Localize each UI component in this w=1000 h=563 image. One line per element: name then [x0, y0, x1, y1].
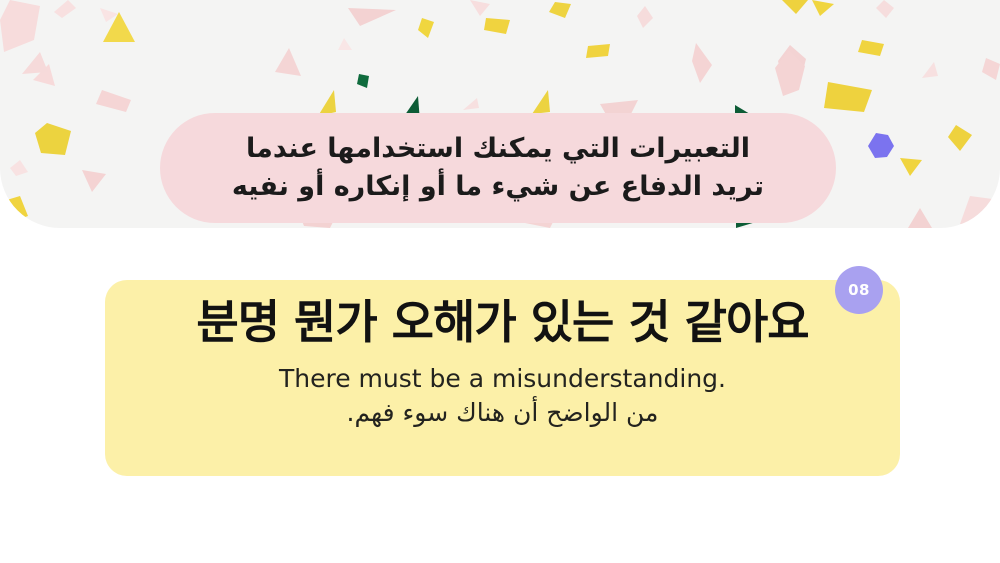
arabic-translation: من الواضح أن هناك سوء فهم. [105, 398, 900, 428]
yellow-pent-1-icon [35, 123, 71, 155]
pink-blob-top-left-icon [0, 0, 40, 52]
yellow-tri-r3-icon [900, 158, 922, 176]
purple-hexagon-icon [868, 133, 894, 158]
pink-sliver-3-icon [876, 0, 894, 18]
pink-sliver-2-icon [637, 6, 653, 28]
pink-sm-tri-1-icon [338, 38, 352, 50]
yellow-sliver-2-icon [549, 2, 571, 18]
header-line-1: التعبيرات التي يمكنك استخدامها عندما [246, 130, 750, 168]
pink-tiny-1-icon [463, 98, 479, 110]
korean-phrase: 분명 뭔가 오해가 있는 것 같아요 [105, 296, 900, 349]
pink-arrow-1-icon [692, 43, 712, 83]
pink-tri-mid-2-icon [470, 0, 490, 16]
english-translation: There must be a misunderstanding. [105, 364, 900, 394]
pink-quad-r1-icon [982, 58, 1000, 80]
yellow-quad-1-icon [484, 18, 510, 34]
yellow-quad-2-icon [824, 82, 872, 112]
slide-number-badge: 08 [835, 266, 883, 314]
pink-tri-r3-icon [908, 208, 932, 228]
pink-tri-5-icon [275, 48, 301, 76]
yellow-sm-1-icon [418, 18, 434, 38]
pink-tiny-2-icon [922, 62, 938, 78]
yellow-tri-4-icon [782, 0, 808, 14]
pink-quad-1-icon [96, 90, 131, 112]
pink-tri-3-icon [22, 52, 48, 74]
yellow-bar-1-icon [586, 44, 610, 58]
header-line-2: تريد الدفاع عن شيء ما أو إنكاره أو نفيه [232, 168, 764, 206]
pink-blob-bottom-icon [960, 196, 1000, 228]
yellow-tri-5-icon [812, 0, 834, 16]
pink-sliver-1-icon [54, 0, 76, 18]
yellow-sliver-3-icon [858, 40, 884, 56]
pink-tri-2-icon [82, 170, 106, 192]
main-phrase-card: 분명 뭔가 오해가 있는 것 같아요 There must be a misun… [105, 280, 900, 476]
pink-sm-left-2-icon [10, 160, 28, 176]
yellow-tri-3-icon [532, 90, 550, 114]
header-card: التعبيرات التي يمكنك استخدامها عندما تري… [160, 113, 836, 223]
yellow-tri-r2-icon [948, 125, 972, 151]
pink-big-tri-icon [348, 8, 396, 26]
yellow-left-edge-icon [0, 196, 28, 224]
green-dark-sm-1-icon [357, 74, 369, 88]
